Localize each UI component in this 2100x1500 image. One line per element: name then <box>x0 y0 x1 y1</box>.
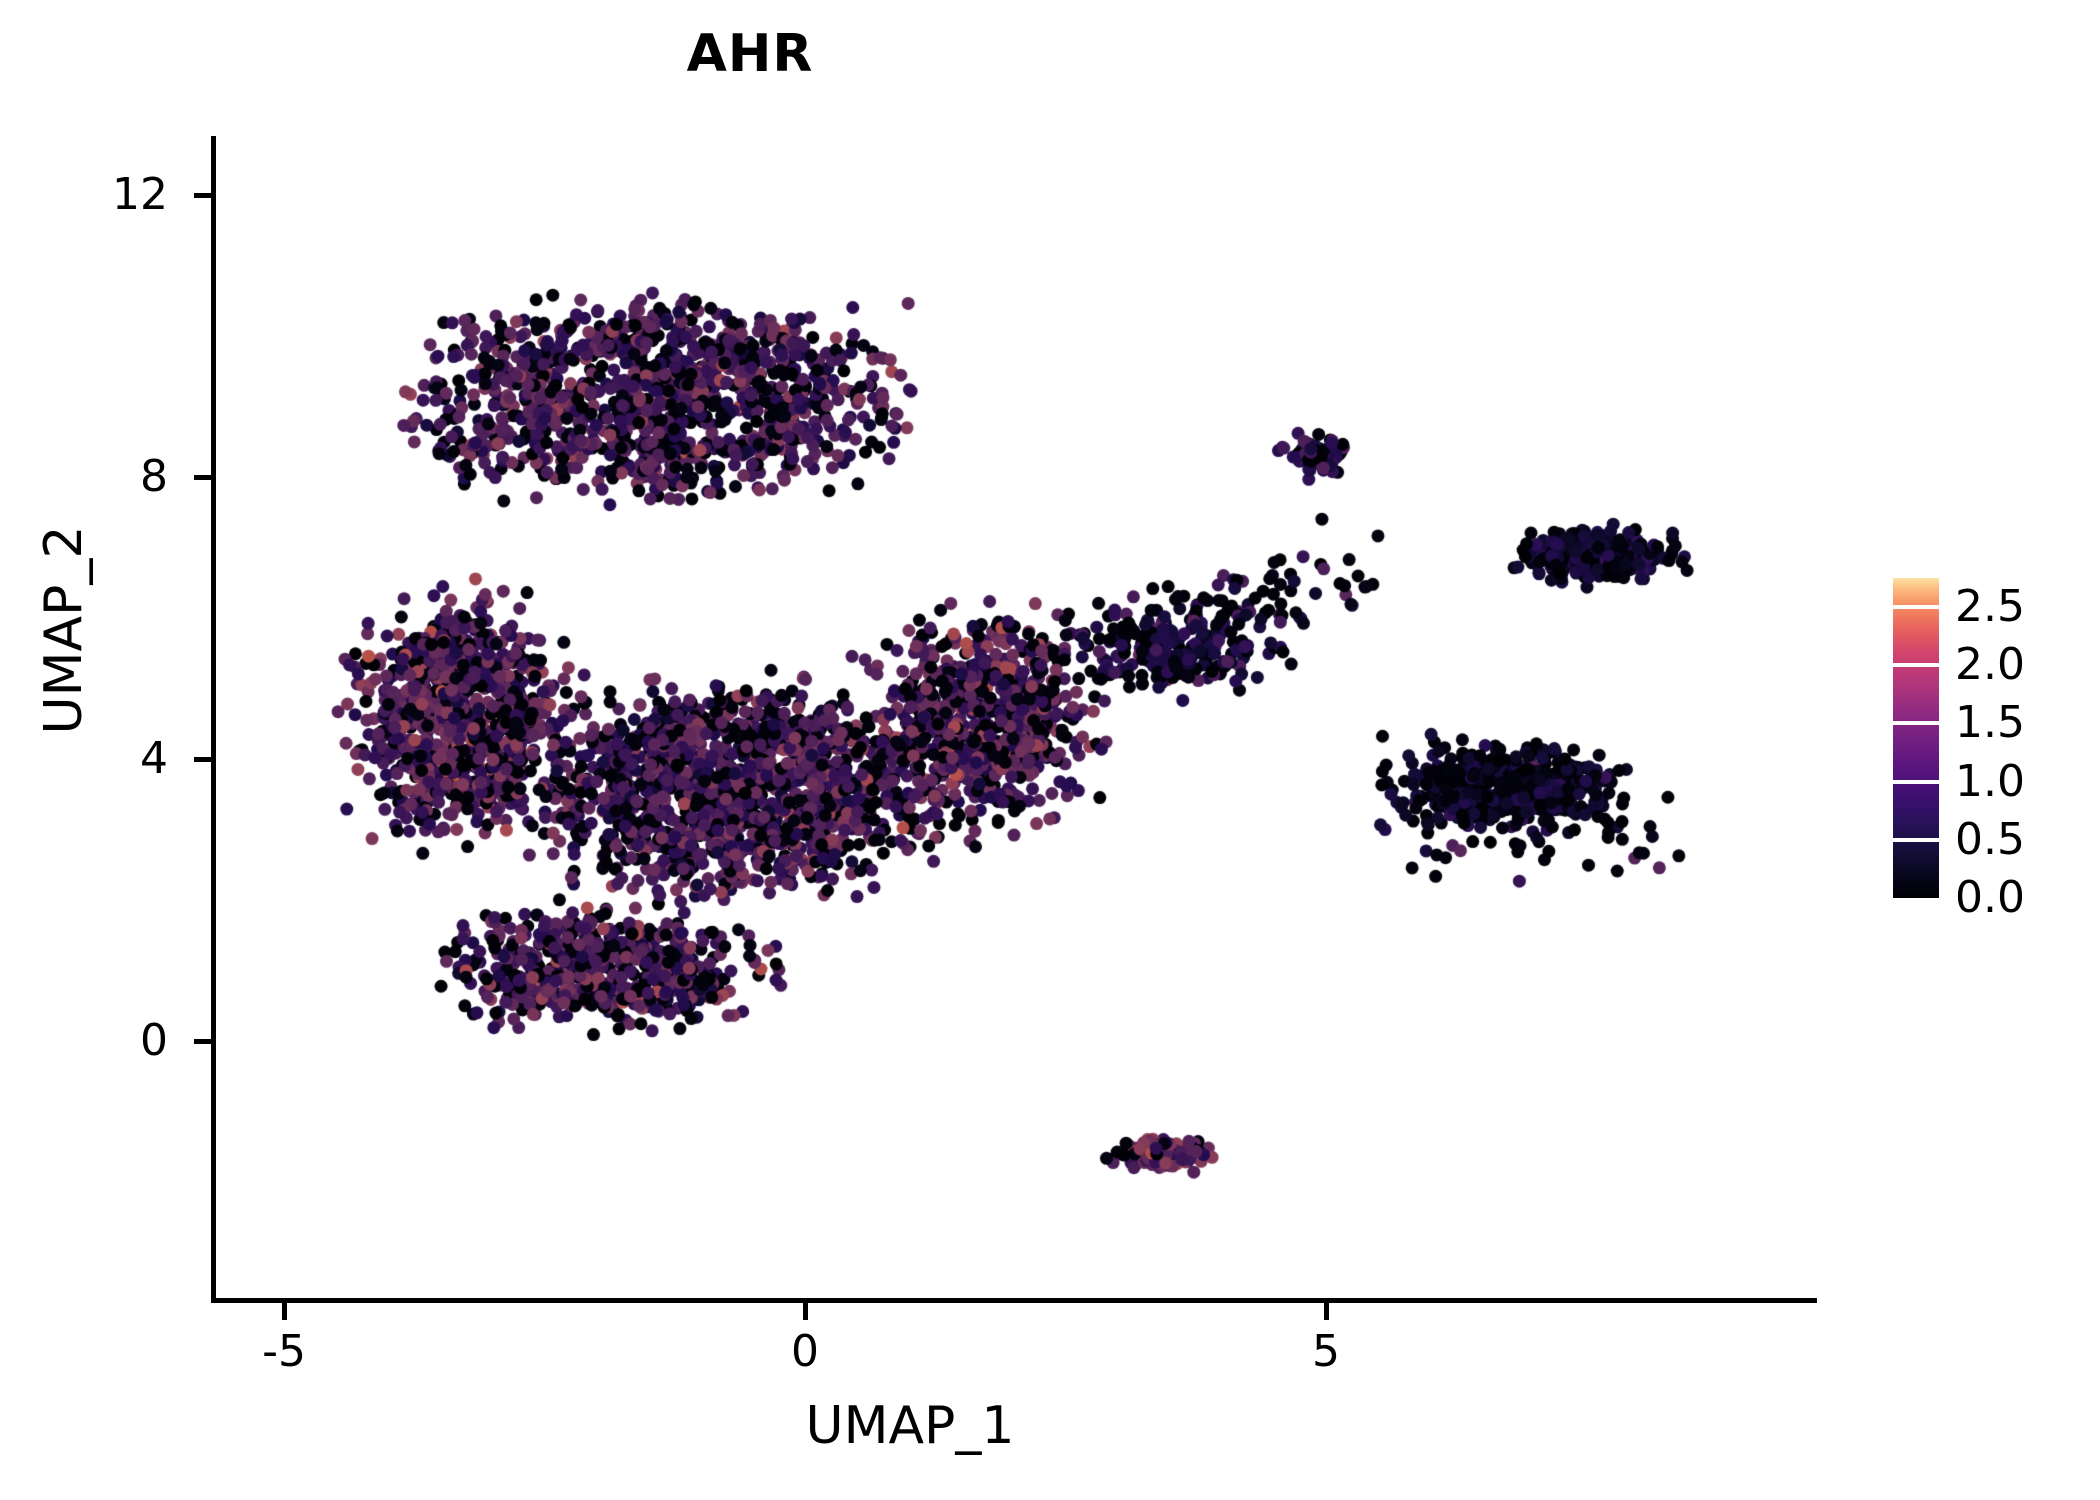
x-tick-mark <box>282 1303 287 1320</box>
colorbar-tick-label: 1.0 <box>1955 760 2085 804</box>
colorbar-tick-mark <box>1893 838 1939 842</box>
colorbar-tick-mark <box>1893 605 1939 609</box>
colorbar-tick-label: 2.0 <box>1955 643 2085 687</box>
x-tick-label: 5 <box>1266 1330 1386 1374</box>
y-tick-label: 0 <box>88 1019 168 1063</box>
colorbar-tick-mark <box>1893 721 1939 725</box>
colorbar-tick-mark <box>1893 663 1939 667</box>
y-tick-label: 8 <box>88 455 168 499</box>
colorbar-gradient <box>1893 578 1939 898</box>
x-axis-title: UMAP_1 <box>530 1396 1290 1456</box>
scatter-plot-canvas <box>0 0 2100 1500</box>
x-tick-label: -5 <box>224 1330 344 1374</box>
x-tick-label: 0 <box>745 1330 865 1374</box>
colorbar-tick-label: 1.5 <box>1955 701 2085 745</box>
x-tick-mark <box>1324 1303 1329 1320</box>
colorbar: 2.52.01.51.00.50.0 <box>1893 578 2093 902</box>
x-axis-line <box>211 1298 1817 1303</box>
colorbar-tick-label: 2.5 <box>1955 585 2085 629</box>
y-tick-mark <box>194 475 211 480</box>
x-tick-mark <box>803 1303 808 1320</box>
y-axis-line <box>211 136 216 1302</box>
y-tick-label: 12 <box>88 173 168 217</box>
colorbar-tick-label: 0.5 <box>1955 818 2085 862</box>
y-axis-title: UMAP_2 <box>34 450 94 810</box>
y-tick-mark <box>194 1039 211 1044</box>
colorbar-tick-mark <box>1893 780 1939 784</box>
umap-feature-plot: AHR 04812 -505 UMAP_1 UMAP_2 2.52.01.51.… <box>0 0 2100 1500</box>
y-tick-label: 4 <box>88 737 168 781</box>
y-tick-mark <box>194 193 211 198</box>
y-tick-mark <box>194 757 211 762</box>
colorbar-tick-label: 0.0 <box>1955 876 2085 920</box>
